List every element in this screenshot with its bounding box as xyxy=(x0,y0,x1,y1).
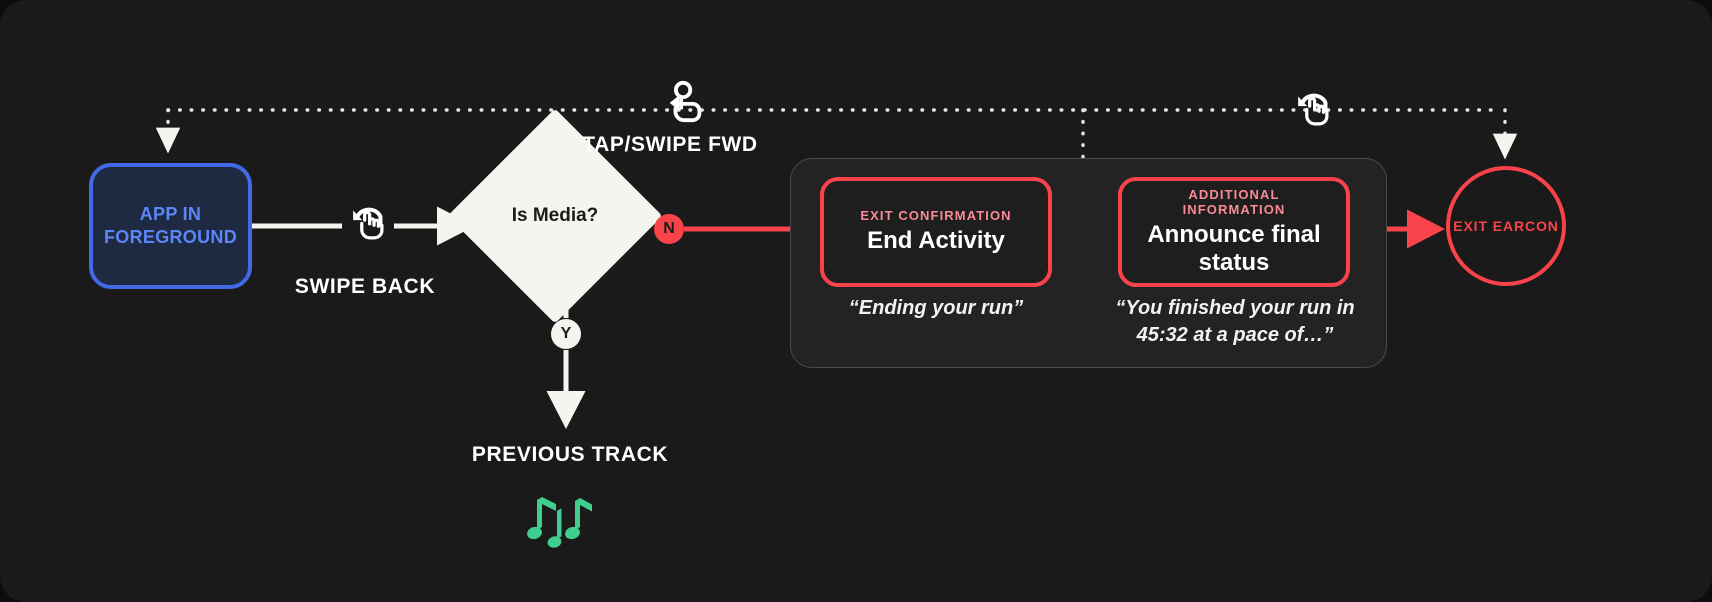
node-app-in-foreground[interactable]: APP IN FOREGROUND xyxy=(89,163,252,289)
node-app-in-foreground-label: APP IN FOREGROUND xyxy=(93,203,248,250)
branch-badge-no-label: N xyxy=(663,220,675,238)
swipe-back-gesture-icon xyxy=(345,200,391,246)
branch-badge-yes-label: Y xyxy=(561,325,572,343)
card-exit-confirmation[interactable]: EXIT CONFIRMATION End Activity xyxy=(820,177,1052,287)
card-exit-confirmation-kicker: EXIT CONFIRMATION xyxy=(860,208,1011,223)
swipe-back-gesture-icon xyxy=(1290,86,1336,132)
card-exit-confirmation-quote: “Ending your run” xyxy=(820,295,1052,322)
card-additional-information-kicker: ADDITIONAL INFORMATION xyxy=(1136,187,1332,217)
node-decision-is-media[interactable]: Is Media? xyxy=(479,140,631,292)
caption-swipe-back: SWIPE BACK xyxy=(265,275,465,299)
card-additional-information[interactable]: ADDITIONAL INFORMATION Announce final st… xyxy=(1118,177,1350,287)
caption-previous-track: PREVIOUS TRACK xyxy=(420,443,720,467)
music-notes-icon xyxy=(527,492,595,556)
node-decision-label: Is Media? xyxy=(512,205,599,227)
card-additional-information-quote: “You finished your run in 45:32 at a pac… xyxy=(1110,295,1360,349)
caption-tap-swipe-fwd: TAP/SWIPE FWD xyxy=(570,132,770,158)
branch-badge-no: N xyxy=(654,214,684,244)
card-additional-information-title: Announce final status xyxy=(1136,221,1332,278)
flow-diagram-canvas: APP IN FOREGROUND Is Media? N Y EXIT CON… xyxy=(0,0,1712,602)
card-exit-confirmation-title: End Activity xyxy=(867,227,1005,255)
branch-badge-yes: Y xyxy=(551,319,581,349)
node-exit-earcon-label: EXIT EARCON xyxy=(1453,217,1559,236)
tap-gesture-icon xyxy=(662,78,708,124)
node-exit-earcon[interactable]: EXIT EARCON xyxy=(1446,166,1566,286)
